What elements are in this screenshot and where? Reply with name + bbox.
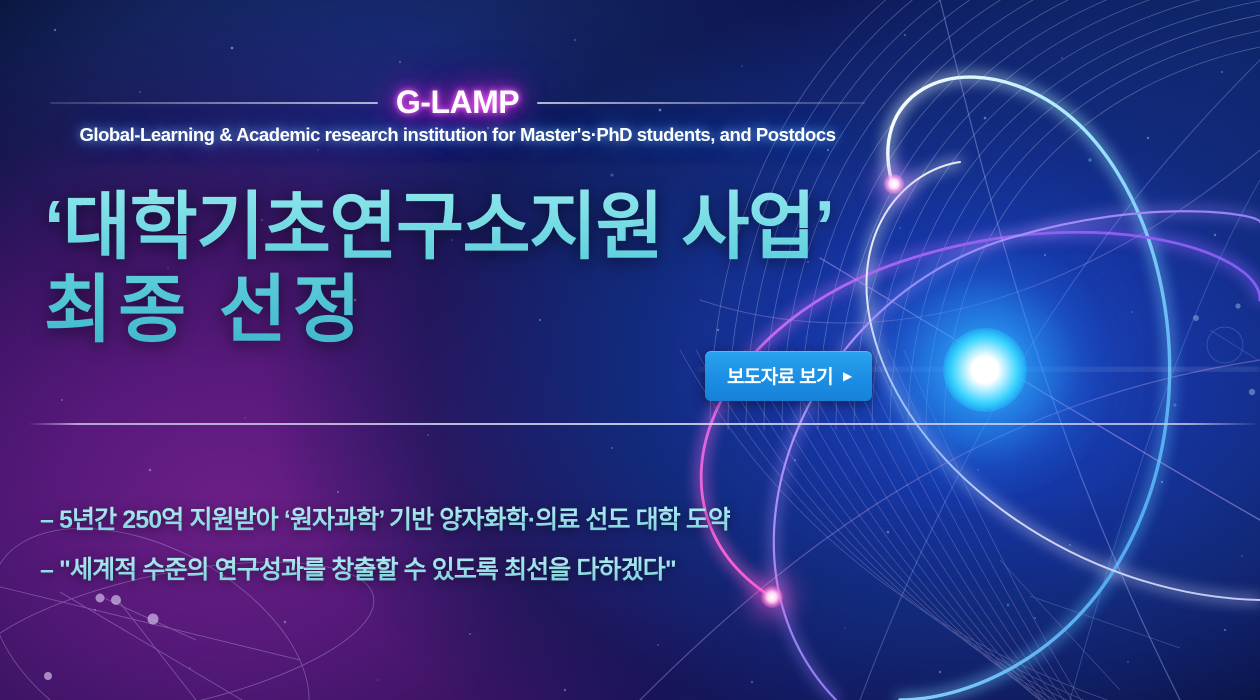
brand-rule-right xyxy=(537,102,865,104)
play-arrow-icon: ▶ xyxy=(843,370,852,382)
section-divider xyxy=(28,423,1260,425)
brand-title: G-LAMP xyxy=(392,84,523,121)
bullet-item: – 5년간 250억 지원받아 ‘원자과학’ 기반 양자화학·의료 선도 대학 … xyxy=(40,500,730,536)
press-release-button-label: 보도자료 보기 xyxy=(727,362,833,389)
bullet-list: – 5년간 250억 지원받아 ‘원자과학’ 기반 양자화학·의료 선도 대학 … xyxy=(40,500,730,586)
headline-line-2: 최종 선정 xyxy=(44,269,834,352)
press-release-button[interactable]: 보도자료 보기 ▶ xyxy=(705,351,872,401)
page-title: ‘대학기초연구소지원 사업’ 최종 선정 xyxy=(44,186,834,352)
brand-rule-left xyxy=(50,102,378,104)
brand-tagline: Global-Learning & Academic research inst… xyxy=(0,124,915,146)
headline-line-1: ‘대학기초연구소지원 사업’ xyxy=(44,185,834,268)
bullet-item: – "세계적 수준의 연구성과를 창출할 수 있도록 최선을 다하겠다" xyxy=(40,550,730,586)
brand-row: G-LAMP xyxy=(50,84,865,121)
promo-banner: G-LAMP Global-Learning & Academic resear… xyxy=(0,0,1260,700)
